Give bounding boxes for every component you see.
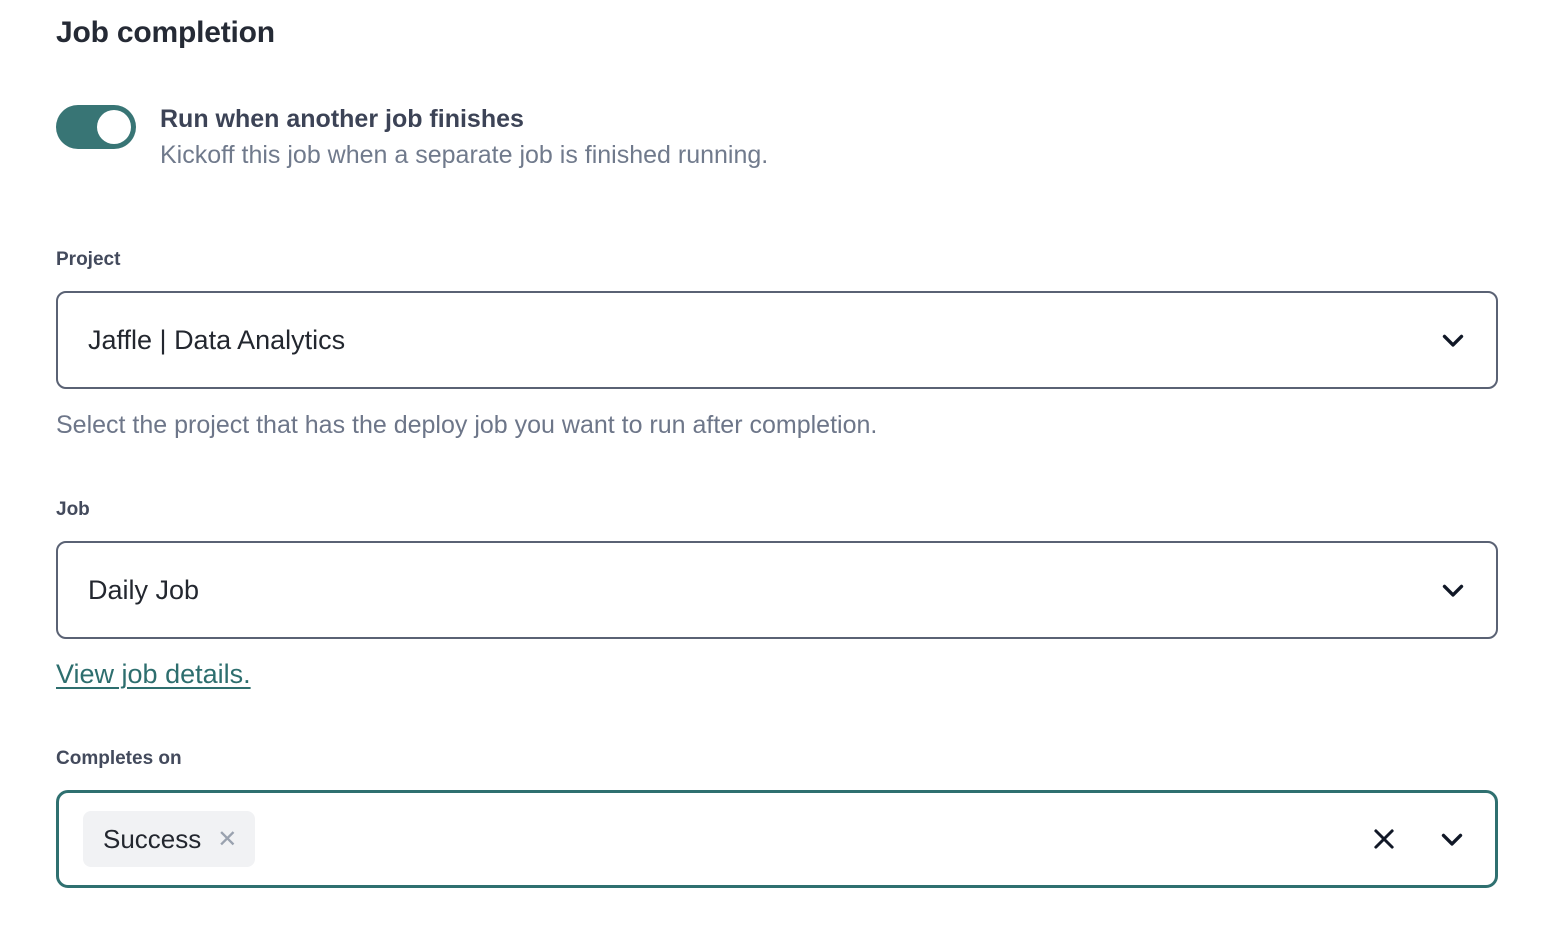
view-job-details-link[interactable]: View job details. xyxy=(56,658,251,690)
job-label: Job xyxy=(56,499,90,522)
project-label: Project xyxy=(56,249,120,272)
toggle-text-group: Run when another job finishes Kickoff th… xyxy=(160,103,768,171)
job-select[interactable]: Daily Job xyxy=(56,541,1498,639)
chevron-down-icon[interactable] xyxy=(1435,822,1469,856)
completes-on-actions xyxy=(1369,822,1473,856)
close-icon[interactable]: ✕ xyxy=(217,829,237,849)
chevron-down-icon[interactable] xyxy=(1436,573,1470,607)
toggle-knob xyxy=(97,110,131,144)
run-when-another-job-finishes-toggle[interactable] xyxy=(56,105,136,149)
toggle-description: Kickoff this job when a separate job is … xyxy=(160,140,768,171)
job-select-value: Daily Job xyxy=(88,574,199,606)
project-select[interactable]: Jaffle | Data Analytics xyxy=(56,291,1498,389)
run-when-another-job-finishes-row: Run when another job finishes Kickoff th… xyxy=(56,103,768,171)
completes-on-chips: Success ✕ xyxy=(83,811,1369,867)
job-completion-panel: Job completion Run when another job fini… xyxy=(0,0,1564,936)
chevron-down-icon[interactable] xyxy=(1436,323,1470,357)
chip-success: Success ✕ xyxy=(83,811,255,867)
project-help-text: Select the project that has the deploy j… xyxy=(56,410,877,440)
page-title: Job completion xyxy=(56,16,275,49)
chip-label: Success xyxy=(103,826,201,852)
completes-on-multiselect[interactable]: Success ✕ xyxy=(56,790,1498,888)
toggle-label: Run when another job finishes xyxy=(160,104,768,134)
clear-all-icon[interactable] xyxy=(1369,824,1399,854)
project-select-value: Jaffle | Data Analytics xyxy=(88,324,345,356)
completes-on-label: Completes on xyxy=(56,748,182,771)
